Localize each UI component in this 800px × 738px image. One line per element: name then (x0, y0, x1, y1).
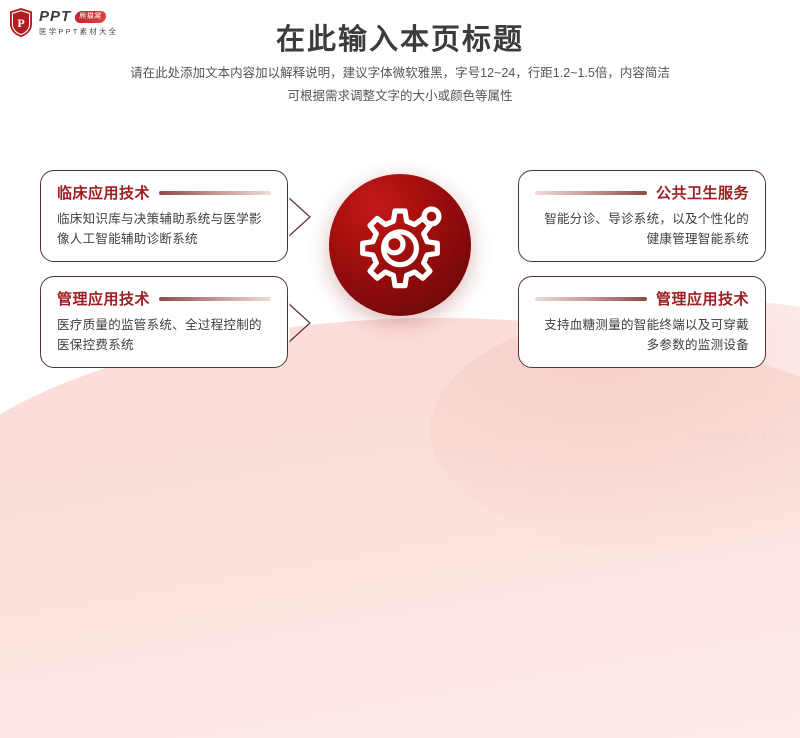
card-title: 公共卫生服务 (656, 182, 749, 203)
center-sphere (329, 174, 471, 316)
card-divider-rule (159, 191, 271, 195)
card-header: 公共卫生服务 (535, 183, 749, 202)
page-subtitle: 请在此处添加文本内容加以解释说明，建议字体微软雅黑，字号12~24，行距1.2~… (0, 62, 800, 108)
card-body-text: 支持血糖测量的智能终端以及可穿戴多参数的监测设备 (535, 315, 749, 355)
card-pointer-right-icon (288, 303, 314, 343)
card-header: 临床应用技术 (57, 183, 271, 202)
logo-tagline: 医学PPT素材大全 (39, 26, 118, 37)
card-header: 管理应用技术 (535, 289, 749, 308)
logo-badge: 熊猫窝 (74, 11, 106, 23)
card-divider-rule (535, 191, 647, 195)
card-body-text: 医疗质量的监管系统、全过程控制的医保控费系统 (57, 315, 271, 355)
gear-icon (329, 174, 471, 316)
card-body-text: 智能分诊、导诊系统，以及个性化的健康管理智能系统 (535, 209, 749, 249)
info-card-clinical[interactable]: 临床应用技术 临床知识库与决策辅助系统与医学影像人工智能辅助诊断系统 (40, 170, 288, 262)
logo-primary-row: PPT 熊猫窝 (39, 9, 118, 25)
page-subtitle-line-1: 请在此处添加文本内容加以解释说明，建议字体微软雅黑，字号12~24，行距1.2~… (0, 62, 800, 85)
card-header: 管理应用技术 (57, 289, 271, 308)
site-watermark: www.ppter.com (692, 430, 786, 440)
card-title: 管理应用技术 (57, 288, 150, 309)
info-card-public-health[interactable]: 公共卫生服务 智能分诊、导诊系统，以及个性化的健康管理智能系统 (518, 170, 766, 262)
info-card-management-right[interactable]: 管理应用技术 支持血糖测量的智能终端以及可穿戴多参数的监测设备 (518, 276, 766, 368)
svg-text:P: P (17, 16, 24, 30)
page-subtitle-line-2: 可根据需求调整文字的大小或颜色等属性 (0, 85, 800, 108)
card-title: 临床应用技术 (57, 182, 150, 203)
brand-logo[interactable]: P PPT 熊猫窝 医学PPT素材大全 (8, 5, 140, 39)
shield-icon: P (8, 7, 34, 38)
card-title: 管理应用技术 (656, 288, 749, 309)
card-divider-rule (535, 297, 647, 301)
info-card-management-left[interactable]: 管理应用技术 医疗质量的监管系统、全过程控制的医保控费系统 (40, 276, 288, 368)
logo-text-block: PPT 熊猫窝 医学PPT素材大全 (39, 8, 118, 37)
card-pointer-right-icon (288, 197, 314, 237)
logo-brand-text: PPT (39, 9, 71, 24)
card-body-text: 临床知识库与决策辅助系统与医学影像人工智能辅助诊断系统 (57, 209, 271, 249)
card-divider-rule (159, 297, 271, 301)
